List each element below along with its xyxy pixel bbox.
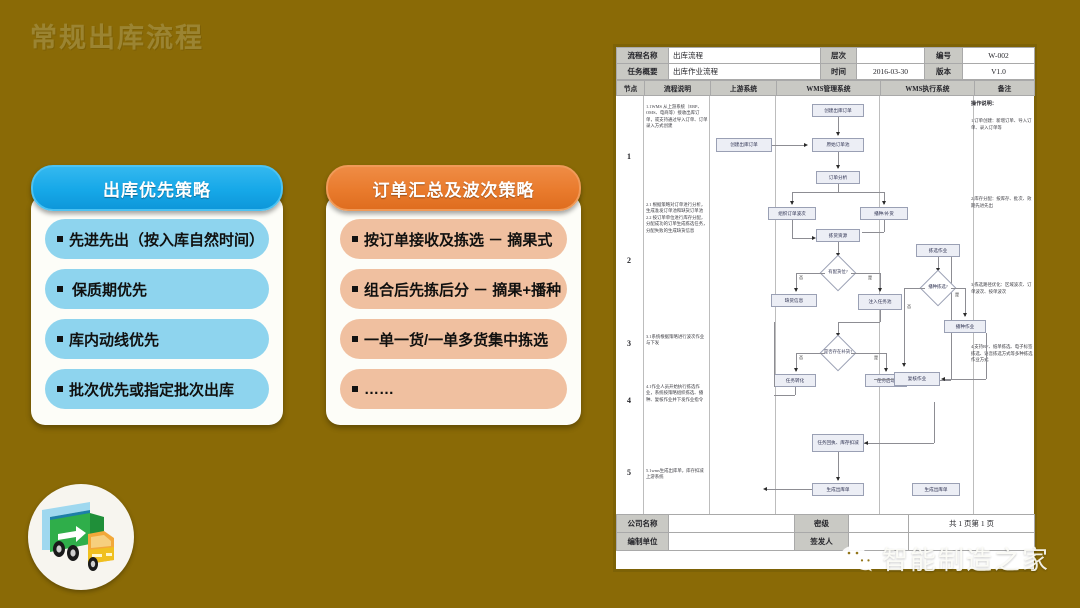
wechat-icon bbox=[840, 544, 876, 574]
column-header-remark: 备注 bbox=[975, 81, 1035, 96]
node-description: 5.1wms生成出库单，库存扣减上游系统 bbox=[646, 468, 708, 481]
note-item: 3.拣选路径优化：区域波次、订单波次、按单波次 bbox=[971, 282, 1033, 295]
node-description: 3.1系统根据策略进行波次作业与下发 bbox=[646, 334, 708, 347]
field-label-task-summary: 任务概要 bbox=[617, 64, 669, 80]
document-header-table: 流程名称 出库流程 层次 编号 W-002 任务概要 出库作业流程 时间 201… bbox=[616, 47, 1035, 80]
flow-box-exec-generate-outbound[interactable]: 生成出库单 bbox=[912, 483, 960, 496]
square-bullet-icon bbox=[352, 336, 358, 342]
flow-branch-label: 否 bbox=[907, 304, 911, 310]
list-item-label: 先进先出（按入库自然时间） bbox=[69, 229, 264, 250]
node-number: 3 bbox=[616, 339, 642, 348]
note-item: 4.支持RF、纸单拣选、电子标签拣选、语音拣选方式等多种拣选作业方式 bbox=[971, 344, 1033, 364]
square-bullet-icon bbox=[352, 286, 358, 292]
field-value-date: 2016-03-30 bbox=[857, 64, 925, 80]
list-item-label: …… bbox=[364, 381, 394, 398]
node-description: 4.1作业人员开始执行拣选作业，系统按策略组织拣选、播种、复核作业并下发作业指令 bbox=[646, 384, 708, 403]
list-item-label: 一单一货/一单多货集中拣选 bbox=[364, 329, 548, 350]
flow-box-organize-order-wave[interactable]: 组织订单波次 bbox=[768, 207, 816, 220]
table-row: 节点 流程说明 上游系统 WMS管理系统 WMS执行系统 备注 bbox=[617, 81, 1035, 96]
process-document: 流程名称 出库流程 层次 编号 W-002 任务概要 出库作业流程 时间 201… bbox=[613, 44, 1037, 572]
flow-box-original-order-pool[interactable]: 原始订单池 bbox=[812, 138, 864, 152]
flow-branch-label: 是 bbox=[874, 355, 878, 361]
panel-order-wave: 订单汇总及波次策略 按订单接收及拣选 － 摘果式 组合后先拣后分 － 摘果+播种… bbox=[326, 165, 581, 425]
note-item: 1.订单创建：新增订单、导入订单、录入订单等 bbox=[971, 118, 1033, 131]
field-label-prepared-by: 编制单位 bbox=[617, 533, 669, 551]
field-label-level: 层次 bbox=[821, 48, 857, 64]
square-bullet-icon bbox=[352, 236, 358, 242]
note-item: 2.库存分配：按库存、批次、效期先进先出 bbox=[971, 196, 1033, 209]
slide: 常规出库流程 出库优先策略 先进先出（按入库自然时间） 保质期优先 库内动线优先… bbox=[0, 0, 1080, 608]
document-column-headers: 节点 流程说明 上游系统 WMS管理系统 WMS执行系统 备注 bbox=[616, 80, 1035, 96]
square-bullet-icon bbox=[352, 386, 358, 392]
list-item-label: 组合后先拣后分 － 摘果+播种 bbox=[364, 279, 561, 300]
flowchart-body: 1 2 3 4 5 1.1WMS 从上游系统（ERP、OMS、电商等）接收出库订… bbox=[616, 96, 1034, 514]
field-value-company bbox=[669, 515, 795, 533]
field-label-date: 时间 bbox=[821, 64, 857, 80]
flow-box-generate-outbound-doc[interactable]: 生成出库单 bbox=[812, 483, 864, 496]
list-item[interactable]: 批次优先或指定批次出库 bbox=[45, 369, 269, 409]
field-value-process-name: 出库流程 bbox=[669, 48, 821, 64]
square-bullet-icon bbox=[57, 286, 63, 292]
flow-box-review-operation[interactable]: 复核作业 bbox=[894, 372, 940, 386]
square-bullet-icon bbox=[57, 336, 63, 342]
page-title: 常规出库流程 bbox=[30, 16, 204, 55]
list-item[interactable]: 库内动线优先 bbox=[45, 319, 269, 359]
field-label-number: 编号 bbox=[925, 48, 963, 64]
square-bullet-icon bbox=[57, 236, 63, 242]
field-label-process-name: 流程名称 bbox=[617, 48, 669, 64]
list-item-label: 库内动线优先 bbox=[69, 329, 159, 350]
flow-decision-label: 是否存在补货? bbox=[810, 349, 866, 355]
flow-box-picking-resource[interactable]: 拣货资源 bbox=[816, 229, 860, 242]
column-header-node: 节点 bbox=[617, 81, 645, 96]
flow-box-create-order-upstream[interactable]: 创建出库订单 bbox=[716, 138, 772, 152]
flow-box-inject-task-pool[interactable]: 注入任务池 bbox=[858, 294, 902, 310]
page-indicator: 共 1 页第 1 页 bbox=[909, 515, 1035, 533]
flow-decision-label: 播种拣选? bbox=[916, 284, 960, 290]
field-value-version: V1.0 bbox=[963, 64, 1035, 80]
list-item[interactable]: 保质期优先 bbox=[45, 269, 269, 309]
field-label-company: 公司名称 bbox=[617, 515, 669, 533]
flow-box-seeding-operation[interactable]: 播种作业 bbox=[944, 320, 986, 333]
node-description: 2.1 根据策略对订单进行分析，生成准发订单池和缺货订单池 2.2 按订单单位进… bbox=[646, 202, 708, 234]
flow-box-seeding-replenish[interactable]: 播种/补货 bbox=[860, 207, 908, 220]
column-header-wms-mgmt: WMS管理系统 bbox=[777, 81, 881, 96]
flow-box-create-outbound-order[interactable]: 创建出库订单 bbox=[812, 104, 864, 117]
field-value-number: W-002 bbox=[963, 48, 1035, 64]
list-item-label: 按订单接收及拣选 － 摘果式 bbox=[364, 229, 552, 250]
warehouse-truck-badge bbox=[28, 484, 134, 590]
node-description: 1.1WMS 从上游系统（ERP、OMS、电商等）接收出库订单，或支持通过导入订… bbox=[646, 104, 708, 130]
column-header-wms-exec: WMS执行系统 bbox=[881, 81, 975, 96]
flow-branch-label: 是 bbox=[955, 292, 959, 298]
table-row: 流程名称 出库流程 层次 编号 W-002 bbox=[617, 48, 1035, 64]
column-header-description: 流程说明 bbox=[645, 81, 711, 96]
flow-decision-label: 有配货位? bbox=[816, 269, 860, 275]
node-number: 4 bbox=[616, 396, 642, 405]
flow-box-shortage-info[interactable]: 缺货信息 bbox=[771, 294, 817, 307]
square-bullet-icon bbox=[57, 386, 63, 392]
list-item-label: 保质期优先 bbox=[72, 279, 147, 300]
watermark-text: 智能制造之家 bbox=[882, 540, 1050, 577]
column-header-upstream: 上游系统 bbox=[711, 81, 777, 96]
notes-title: 操作说明： bbox=[971, 100, 1033, 107]
list-item[interactable]: …… bbox=[340, 369, 567, 409]
node-number: 1 bbox=[616, 152, 642, 161]
flow-branch-label: 是 bbox=[868, 275, 872, 281]
list-item-label: 批次优先或指定批次出库 bbox=[69, 379, 234, 400]
flow-box-task-receipt[interactable]: 任务回执、库存扣减 bbox=[812, 434, 864, 452]
watermark: 智能制造之家 bbox=[840, 540, 1050, 577]
list-item[interactable]: 按订单接收及拣选 － 摘果式 bbox=[340, 219, 567, 259]
flow-box-picking-operation[interactable]: 拣选作业 bbox=[916, 244, 960, 257]
flow-box-task-convert[interactable]: 任务转化 bbox=[774, 374, 816, 387]
table-row: 公司名称 密级 共 1 页第 1 页 bbox=[617, 515, 1035, 533]
panel-header-outbound-priority[interactable]: 出库优先策略 bbox=[31, 165, 283, 211]
list-item[interactable]: 组合后先拣后分 － 摘果+播种 bbox=[340, 269, 567, 309]
node-number: 5 bbox=[616, 468, 642, 477]
list-item[interactable]: 一单一货/一单多货集中拣选 bbox=[340, 319, 567, 359]
panel-outbound-priority: 出库优先策略 先进先出（按入库自然时间） 保质期优先 库内动线优先 批次优先或指… bbox=[31, 165, 283, 425]
field-label-secrecy: 密级 bbox=[795, 515, 849, 533]
table-row: 任务概要 出库作业流程 时间 2016-03-30 版本 V1.0 bbox=[617, 64, 1035, 80]
node-number: 2 bbox=[616, 256, 642, 265]
panel-header-order-wave[interactable]: 订单汇总及波次策略 bbox=[326, 165, 581, 211]
field-value-secrecy bbox=[849, 515, 909, 533]
list-item[interactable]: 先进先出（按入库自然时间） bbox=[45, 219, 269, 259]
panel-body-order-wave: 按订单接收及拣选 － 摘果式 组合后先拣后分 － 摘果+播种 一单一货/一单多货… bbox=[326, 195, 581, 425]
field-value-task-summary: 出库作业流程 bbox=[669, 64, 821, 80]
panel-body-outbound-priority: 先进先出（按入库自然时间） 保质期优先 库内动线优先 批次优先或指定批次出库 bbox=[31, 195, 283, 425]
flow-branch-label: 否 bbox=[799, 275, 803, 281]
warehouse-truck-icon bbox=[28, 484, 134, 590]
field-value-level bbox=[857, 48, 925, 64]
flow-box-order-analysis[interactable]: 订单分析 bbox=[816, 171, 860, 184]
field-label-version: 版本 bbox=[925, 64, 963, 80]
field-value-prepared-by bbox=[669, 533, 795, 551]
flow-branch-label: 否 bbox=[799, 355, 803, 361]
